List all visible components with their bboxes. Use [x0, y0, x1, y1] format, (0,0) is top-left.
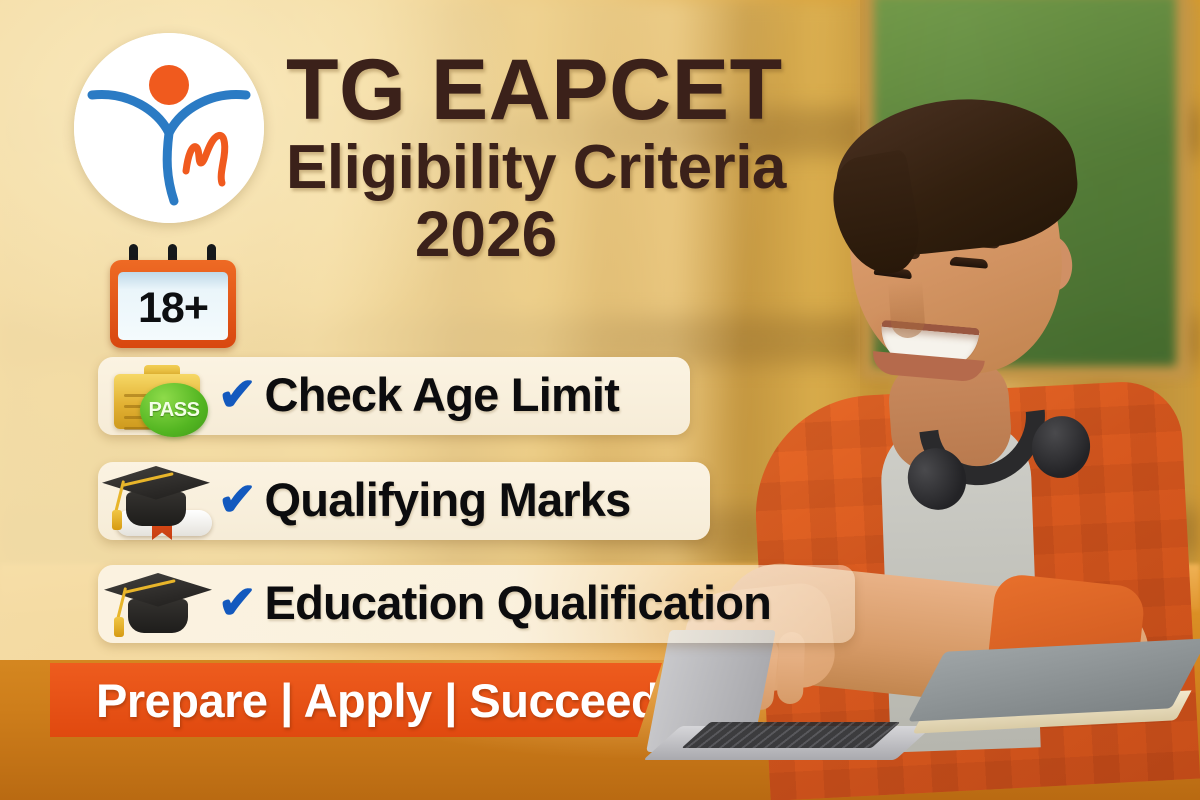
checkmark-icon: ✔ [218, 476, 257, 522]
graduation-cap-diploma-icon [98, 462, 216, 540]
feature-row-qualifying-marks[interactable]: ✔ Qualifying Marks [98, 462, 710, 540]
checkmark-icon: ✔ [218, 371, 257, 417]
page-title: TG EAPCET Eligibility Criteria 2026 [286, 48, 846, 266]
title-year: 2026 [286, 202, 846, 266]
feature-label: Qualifying Marks [265, 476, 631, 523]
calendar-icon: 18+ [110, 260, 236, 348]
age-badge-text: 18+ [138, 287, 208, 330]
graduation-cap-icon [98, 565, 216, 643]
cap-tassel-end [112, 510, 122, 530]
brand-logo[interactable] [74, 33, 264, 223]
feature-label: Check Age Limit [265, 371, 620, 418]
graduation-cap [104, 569, 216, 641]
laptop [640, 630, 940, 760]
age-limit-badge: 18+ [110, 244, 236, 348]
feature-label: Education Qualification [265, 579, 771, 626]
pass-stamp-text: PASS [149, 400, 200, 420]
checkmark-icon: ✔ [218, 579, 257, 625]
cta-text: Prepare | Apply | Succeed [96, 677, 659, 724]
cta-banner[interactable]: Prepare | Apply | Succeed [50, 663, 662, 737]
logo-head-dot [149, 65, 189, 105]
graduation-cap [102, 462, 214, 540]
title-line-1: TG EAPCET [286, 48, 846, 132]
feature-row-education-qualification[interactable]: ✔ Education Qualification [98, 565, 855, 643]
title-line-2: Eligibility Criteria [286, 136, 846, 199]
document-pass-icon: PASS [98, 357, 216, 435]
feature-row-check-age-limit[interactable]: PASS ✔ Check Age Limit [98, 357, 690, 435]
calendar-face: 18+ [118, 272, 228, 340]
eligibility-promo-banner: TG EAPCET Eligibility Criteria 2026 18+ [0, 0, 1200, 800]
nose [888, 281, 926, 339]
cap-tassel-end [114, 617, 124, 637]
laptop-keyboard [682, 722, 901, 748]
closed-book [930, 645, 1200, 760]
pass-stamp-icon: PASS [140, 383, 208, 437]
